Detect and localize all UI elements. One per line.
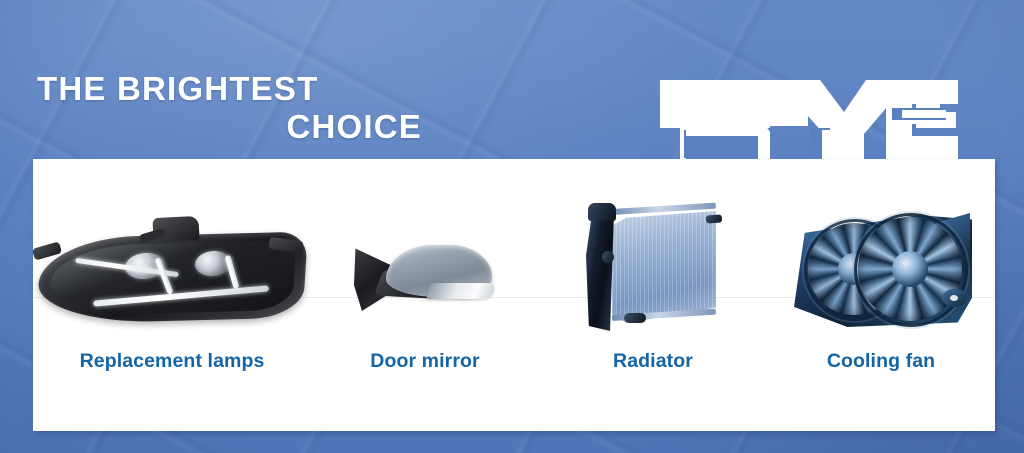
product-label-radiator: Radiator [613,350,693,373]
product-item-replacement-lamps[interactable]: Replacement lamps [33,159,311,431]
radiator-outlet-bottom [624,313,646,323]
cooling-fan-rim-right [854,213,968,327]
headline-line-2: CHOICE [37,108,422,146]
product-row: Replacement lamps Door mirror [33,159,995,431]
cooling-fan-mount-ear [942,289,966,307]
product-image-door-mirror [311,159,539,337]
product-item-door-mirror[interactable]: Door mirror [311,159,539,431]
product-label-door-mirror: Door mirror [370,350,479,373]
product-image-cooling-fan [767,159,995,337]
radiator-core [612,211,716,323]
radiator-filler-neck [588,203,616,221]
door-mirror-icon [350,231,500,331]
radiator-side-tank [586,205,614,331]
radiator-outlet-right [706,214,723,223]
product-label-cooling-fan: Cooling fan [827,350,935,373]
product-item-radiator[interactable]: Radiator [539,159,767,431]
tyc-promo-banner: THE BRIGHTEST CHOICE [0,0,1024,453]
headline-line-1: THE BRIGHTEST [37,70,318,108]
cooling-fan-icon [786,211,976,331]
door-mirror-glass [426,283,496,299]
product-image-radiator [539,159,767,337]
tyc-logo [658,78,958,162]
product-item-cooling-fan[interactable]: Cooling fan [767,159,995,431]
product-image-replacement-lamps [33,159,311,337]
headlamp-icon [33,209,311,329]
radiator-port [602,251,614,263]
product-panel: Replacement lamps Door mirror [33,159,995,431]
headlamp-mount-bracket [152,216,199,242]
product-label-replacement-lamps: Replacement lamps [80,350,265,373]
radiator-icon [578,203,728,333]
